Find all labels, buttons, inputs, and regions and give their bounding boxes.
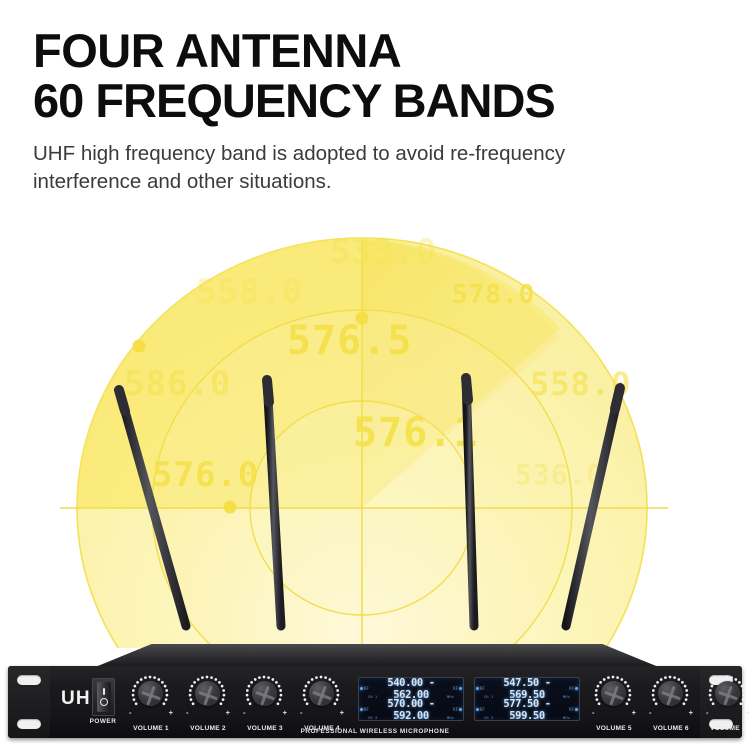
knob-plus-label: + [746, 708, 750, 717]
knob-dial[interactable] [128, 675, 172, 715]
lcd-display-right[interactable]: RF 547.50 - 569.50 RF CH 1 MHz CH 2 MHz … [474, 677, 580, 721]
knob-minus-label: - [649, 708, 652, 717]
lcd-channel: CH 3 [484, 716, 493, 720]
volume-knob-1[interactable]: - + VOLUME 1 [128, 675, 174, 733]
knob-plus-label: + [226, 708, 230, 717]
rf-tag-right: RF [453, 707, 458, 712]
knob-dial[interactable] [591, 675, 635, 715]
rf-indicator-icon [476, 708, 479, 711]
receiver-unit: UHF POWER - + VOLUME 1 [0, 620, 750, 740]
lcd-unit: MHz [395, 716, 402, 720]
knob-minus-label: - [706, 708, 709, 717]
knob-minus-label: - [186, 708, 189, 717]
knob-minus-label: - [592, 708, 595, 717]
knob-body[interactable] [138, 681, 163, 706]
knob-minus-label: - [300, 708, 303, 717]
lcd-channel: CH 4 [536, 716, 545, 720]
antenna-3 [466, 378, 474, 626]
antenna-4 [566, 388, 620, 626]
rf-indicator-icon [476, 687, 479, 690]
knob-body[interactable] [715, 681, 740, 706]
antenna-svg [0, 218, 750, 658]
headline-line-2: 60 FREQUENCY BANDS [33, 76, 693, 126]
knob-plus-label: + [283, 708, 287, 717]
knob-body[interactable] [309, 681, 334, 706]
rf-tag-right: RF [569, 707, 574, 712]
knob-minus-label: - [129, 708, 132, 717]
rf-tag-right: RF [569, 686, 574, 691]
knob-dial[interactable] [185, 675, 229, 715]
power-switch[interactable] [92, 678, 115, 716]
rf-indicator-icon [360, 708, 363, 711]
lcd-channel: CH 3 [368, 716, 377, 720]
knob-body[interactable] [601, 681, 626, 706]
knob-plus-label: + [169, 708, 173, 717]
volume-knob-7[interactable]: - + VOLUME 7 [705, 675, 750, 733]
subheadline: UHF high frequency band is adopted to av… [33, 140, 673, 196]
knob-plus-label: + [632, 708, 636, 717]
rf-indicator-icon [575, 708, 578, 711]
volume-knob-4[interactable]: - + VOLUME 4 [299, 675, 345, 733]
power-on-icon [103, 688, 105, 695]
knob-plus-label: + [340, 708, 344, 717]
antenna-1 [119, 390, 186, 626]
knob-dial[interactable] [705, 675, 749, 715]
knob-dial[interactable] [242, 675, 286, 715]
knob-dial[interactable] [648, 675, 692, 715]
knob-dial[interactable] [299, 675, 343, 715]
lcd-unit: MHz [447, 716, 454, 720]
rf-indicator-icon [360, 687, 363, 690]
product-feature-banner: FOUR ANTENNA 60 FREQUENCY BANDS UHF high… [0, 0, 750, 750]
rf-indicator-icon [575, 687, 578, 690]
lcd-row: RF 570.00 - 592.00 RF CH 3 MHz CH 4 MHz [359, 699, 463, 720]
lcd-channel: CH 4 [420, 716, 429, 720]
lcd-row: RF 577.50 - 599.50 RF CH 3 MHz CH 4 MHz [475, 699, 579, 720]
lcd-row: RF 540.00 - 562.00 RF CH 1 MHz CH 2 MHz [359, 678, 463, 699]
model-label: PROFESSIONAL WIRELESS MICROPHONE [8, 728, 742, 735]
knob-body[interactable] [658, 681, 683, 706]
lcd-unit: MHz [511, 716, 518, 720]
volume-knob-3[interactable]: - + VOLUME 3 [242, 675, 288, 733]
lcd-display-left[interactable]: RF 540.00 - 562.00 RF CH 1 MHz CH 2 MHz … [358, 677, 464, 721]
rf-tag-right: RF [453, 686, 458, 691]
volume-knob-5[interactable]: - + VOLUME 5 [591, 675, 637, 733]
antenna-group [0, 218, 750, 658]
receiver-front-panel: UHF POWER - + VOLUME 1 [8, 666, 742, 738]
power-label: POWER [82, 718, 124, 725]
headline-block: FOUR ANTENNA 60 FREQUENCY BANDS UHF high… [33, 26, 693, 196]
volume-knob-6[interactable]: - + VOLUME 6 [648, 675, 694, 733]
knob-plus-label: + [689, 708, 693, 717]
knob-body[interactable] [252, 681, 277, 706]
rf-indicator-icon [459, 708, 462, 711]
knob-minus-label: - [243, 708, 246, 717]
antenna-2 [267, 380, 281, 626]
rack-mount-slot [17, 675, 41, 685]
volume-knob-2[interactable]: - + VOLUME 2 [185, 675, 231, 733]
page-title: FOUR ANTENNA 60 FREQUENCY BANDS [33, 26, 693, 126]
lcd-channel-row: CH 3 MHz CH 4 MHz [359, 716, 463, 720]
power-rocker[interactable] [97, 682, 111, 712]
headline-line-1: FOUR ANTENNA [33, 24, 401, 77]
rf-indicator-icon [459, 687, 462, 690]
lcd-channel-row: CH 3 MHz CH 4 MHz [475, 716, 579, 720]
lcd-row: RF 547.50 - 569.50 RF CH 1 MHz CH 2 MHz [475, 678, 579, 699]
lcd-unit: MHz [563, 716, 570, 720]
knob-body[interactable] [195, 681, 220, 706]
power-off-icon [100, 698, 108, 706]
